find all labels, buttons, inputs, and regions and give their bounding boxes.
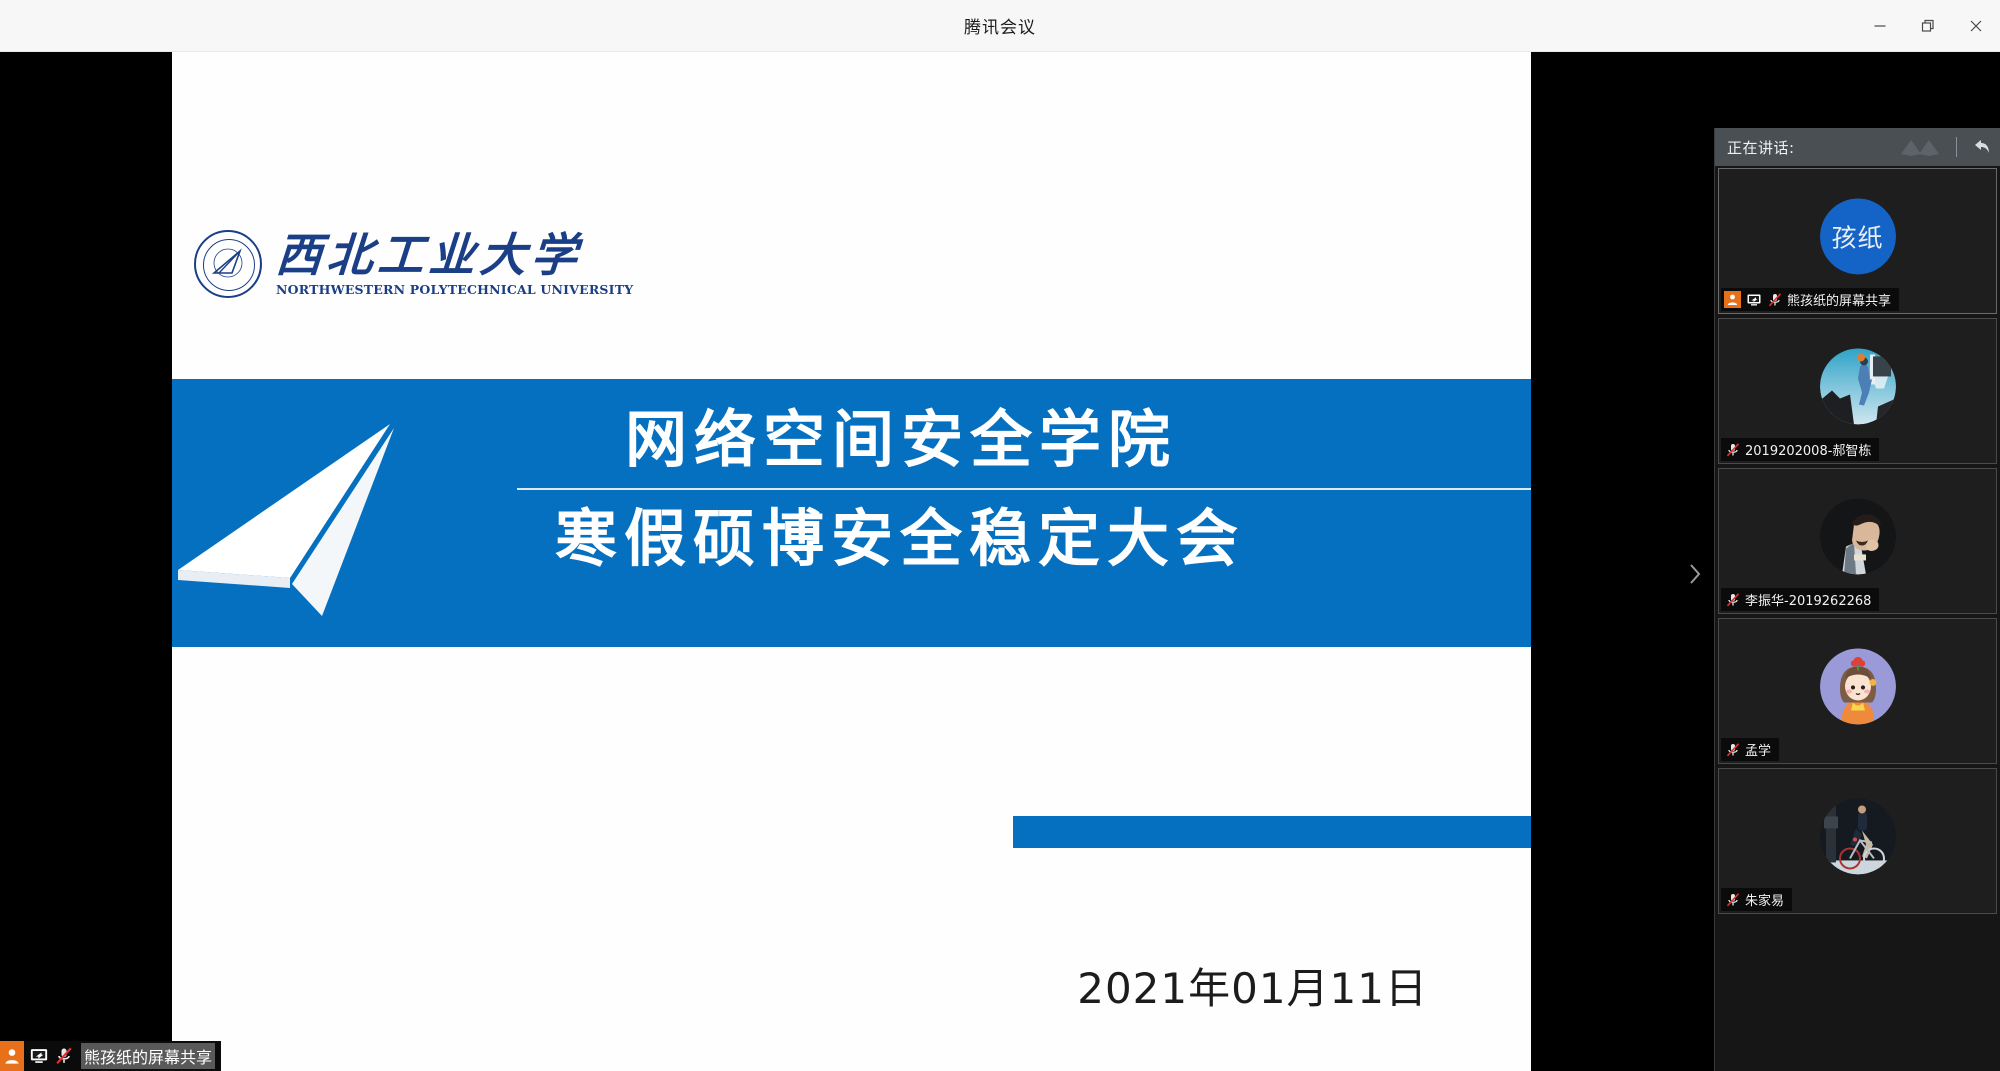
- host-person-icon: [1724, 291, 1741, 308]
- slide-title-main: 网络空间安全学院: [517, 401, 1531, 479]
- window-title-bar: 腾讯会议: [0, 0, 2000, 52]
- seal-glyph-icon: [210, 245, 246, 281]
- participant-tile[interactable]: 孟学: [1718, 618, 1997, 764]
- slide-title-sub: 寒假硕博安全稳定大会: [517, 500, 1531, 578]
- window-title: 腾讯会议: [964, 13, 1036, 38]
- shared-screen-slide[interactable]: 西北工业大学 NORTHWESTERN POLYTECHNICAL UNIVER…: [172, 52, 1531, 1071]
- mic-muted-icon: [1724, 591, 1741, 608]
- participant-label: 李振华-2019262268: [1721, 588, 1879, 611]
- mic-muted-icon: [1724, 741, 1741, 758]
- screen-share-overlay: 熊孩纸的屏幕共享: [0, 1041, 221, 1071]
- close-icon: [1969, 19, 1983, 33]
- host-person-icon: [0, 1041, 24, 1071]
- restore-button[interactable]: [1904, 0, 1952, 52]
- screen-share-icon: [28, 1046, 49, 1067]
- participant-tile[interactable]: 朱家易: [1718, 768, 1997, 914]
- avatar-initials: 孩纸: [1820, 198, 1896, 274]
- meeting-stage: 西北工业大学 NORTHWESTERN POLYTECHNICAL UNIVER…: [0, 52, 2000, 1071]
- slide-title-divider: [517, 488, 1531, 491]
- minimize-icon: [1873, 19, 1887, 33]
- participant-label: 朱家易: [1721, 888, 1792, 911]
- participant-label: 熊孩纸的屏幕共享: [1721, 288, 1899, 311]
- participant-name: 2019202008-郝智栋: [1745, 440, 1871, 459]
- university-name-en: NORTHWESTERN POLYTECHNICAL UNIVERSITY: [276, 282, 633, 297]
- participant-name: 孟学: [1745, 740, 1771, 759]
- slide-blue-band: 网络空间安全学院 寒假硕博安全稳定大会: [172, 379, 1531, 647]
- paper-plane-icon: [172, 402, 427, 627]
- screen-share-icon: [1745, 291, 1762, 308]
- avatar: [1820, 498, 1896, 574]
- slide-title-group: 网络空间安全学院 寒假硕博安全稳定大会: [517, 401, 1531, 647]
- mic-muted-icon: [53, 1046, 74, 1067]
- speaking-now-label: 正在讲话:: [1727, 137, 1891, 158]
- header-divider: [1956, 137, 1957, 157]
- avatar: [1820, 348, 1896, 424]
- mic-muted-icon: [1724, 441, 1741, 458]
- back-arrow-icon: [1972, 137, 1992, 157]
- back-button[interactable]: [1972, 137, 1992, 157]
- mic-muted-icon: [1766, 291, 1783, 308]
- panel-header: 正在讲话:: [1715, 128, 2000, 166]
- minimize-button[interactable]: [1856, 0, 1904, 52]
- chevron-right-icon: [1686, 561, 1704, 587]
- slide-accent-bar: [1013, 816, 1531, 848]
- avatar: [1820, 648, 1896, 724]
- avatar-photo-portrait: [1820, 498, 1896, 574]
- participant-tiles[interactable]: 孩纸: [1715, 166, 2000, 1071]
- close-button[interactable]: [1952, 0, 2000, 52]
- avatar-cartoon-girl: [1820, 648, 1896, 724]
- window-controls: [1856, 0, 2000, 52]
- participant-label: 孟学: [1721, 738, 1779, 761]
- scroll-chevrons-icon[interactable]: [1897, 136, 1941, 158]
- university-seal-icon: [194, 230, 262, 298]
- avatar-photo-bicycle: [1820, 798, 1896, 874]
- avatar-photo-basketball: [1820, 348, 1896, 424]
- slide-date: 2021年01月11日: [1077, 955, 1428, 1016]
- university-name-cn: 西北工业大学: [274, 231, 635, 279]
- avatar: 孩纸: [1820, 198, 1896, 274]
- participant-tile[interactable]: 李振华-2019262268: [1718, 468, 1997, 614]
- participant-tile[interactable]: 孩纸: [1718, 168, 1997, 314]
- scroll-chevrons-glyph-icon: [1897, 136, 1941, 158]
- mic-muted-icon: [1724, 891, 1741, 908]
- participant-name: 熊孩纸的屏幕共享: [1787, 290, 1891, 309]
- participant-name: 李振华-2019262268: [1745, 590, 1871, 609]
- participant-tile[interactable]: 2019202008-郝智栋: [1718, 318, 1997, 464]
- panel-collapse-button[interactable]: [1680, 552, 1710, 596]
- university-logo: 西北工业大学 NORTHWESTERN POLYTECHNICAL UNIVER…: [194, 230, 633, 298]
- participant-label: 2019202008-郝智栋: [1721, 438, 1879, 461]
- participant-name: 朱家易: [1745, 890, 1784, 909]
- avatar: [1820, 798, 1896, 874]
- share-overlay-label: 熊孩纸的屏幕共享: [81, 1043, 215, 1069]
- participants-panel: 正在讲话: 孩纸: [1714, 128, 2000, 1071]
- restore-icon: [1921, 19, 1935, 33]
